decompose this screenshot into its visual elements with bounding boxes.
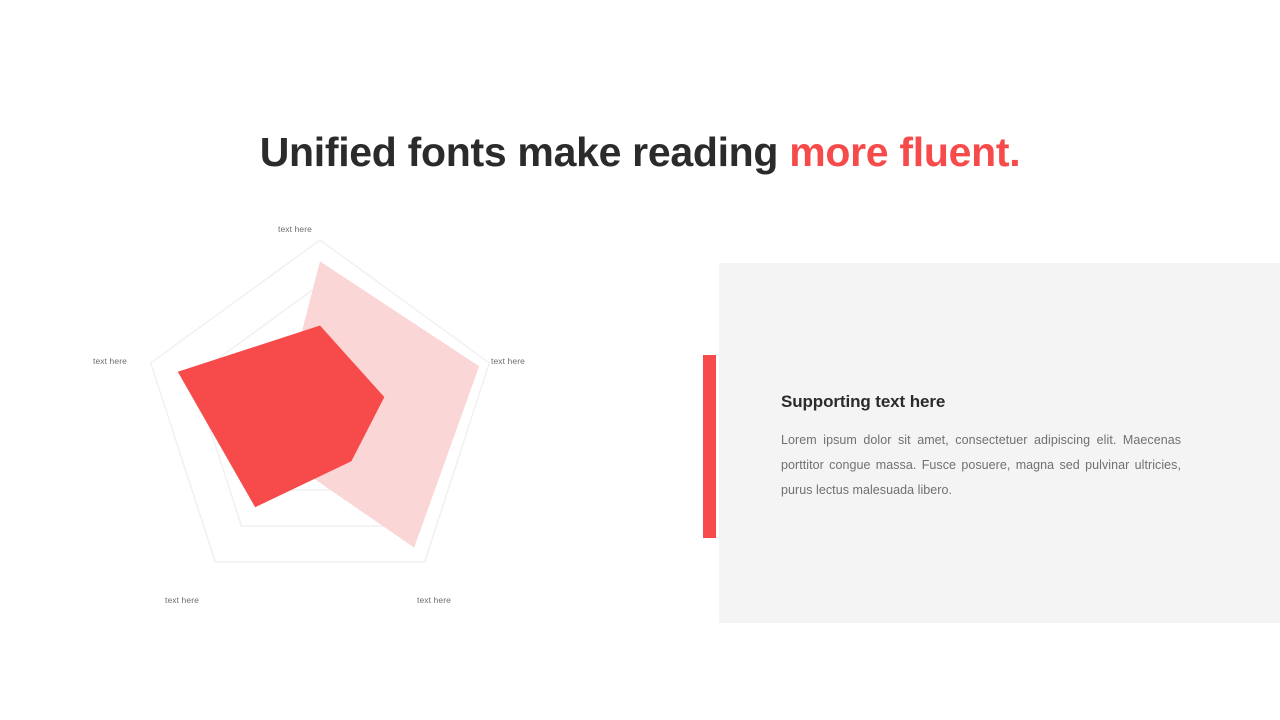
radar-axis-label-bottom-right: text here [417, 595, 451, 605]
supporting-body: Lorem ipsum dolor sit amet, consectetuer… [781, 428, 1181, 503]
slide-canvas: Unified fonts make reading more fluent. … [0, 0, 1280, 720]
title-accent: more fluent. [789, 129, 1020, 175]
radar-axis-label-right: text here [491, 356, 525, 366]
radar-axis-label-left: text here [93, 356, 127, 366]
supporting-text-content: Supporting text here Lorem ipsum dolor s… [781, 392, 1201, 503]
radar-axis-label-top: text here [278, 224, 312, 234]
radar-chart: text here text here text here text here … [60, 210, 600, 630]
radar-chart-svg [60, 210, 600, 630]
title-plain: Unified fonts make reading [260, 129, 790, 175]
supporting-heading: Supporting text here [781, 392, 1201, 412]
page-title: Unified fonts make reading more fluent. [0, 128, 1280, 177]
accent-bar [703, 355, 716, 538]
radar-axis-label-bottom-left: text here [165, 595, 199, 605]
